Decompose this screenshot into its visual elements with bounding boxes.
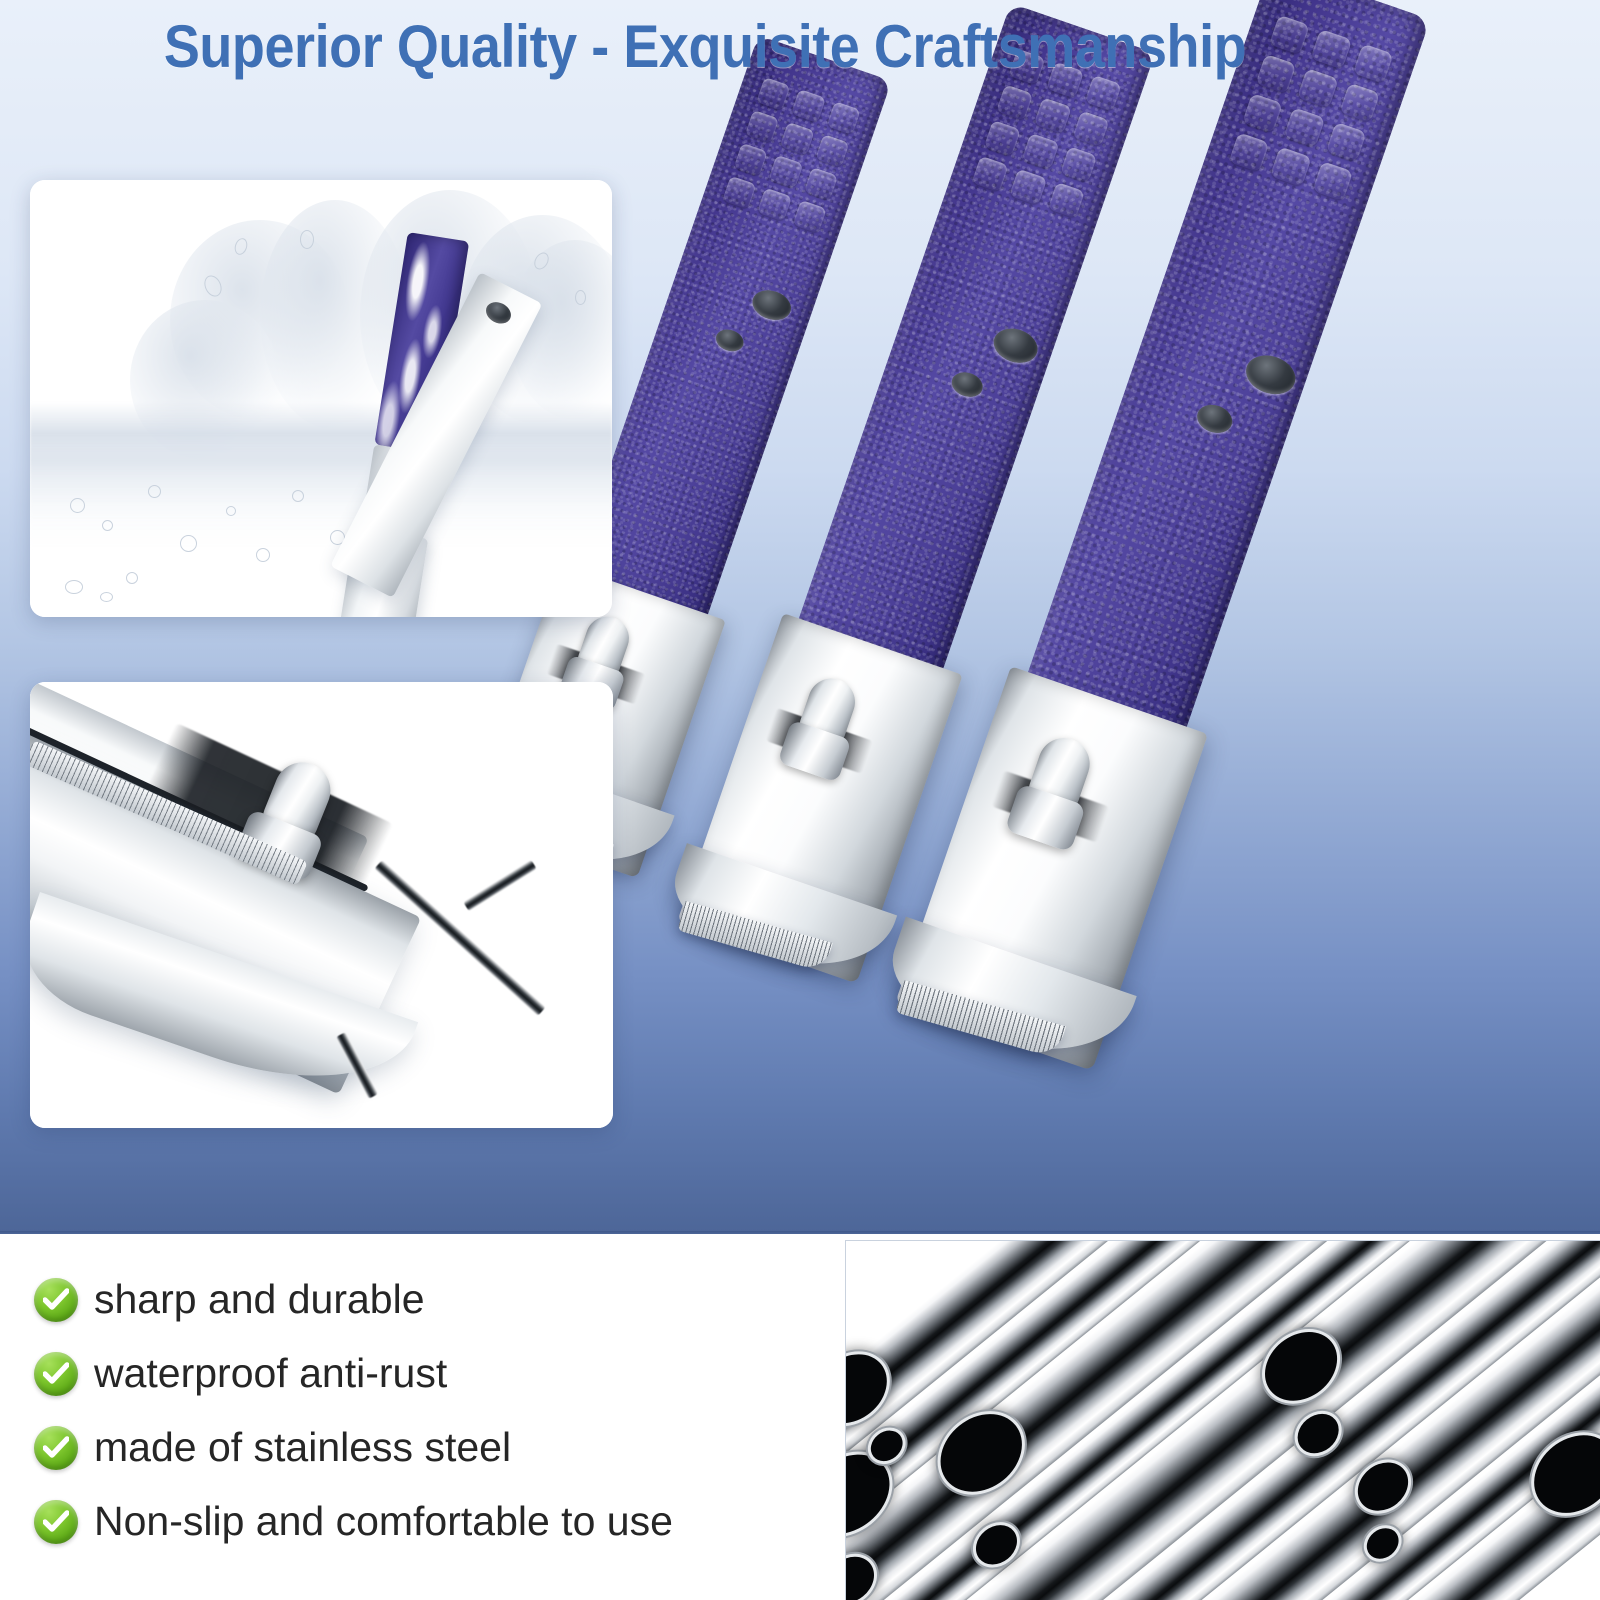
page-title: Superior Quality - Exquisite Craftsmansh… [71, 12, 1340, 81]
list-item: Non-slip and comfortable to use [34, 1493, 845, 1551]
list-item: waterproof anti-rust [34, 1345, 845, 1403]
check-circle-icon [34, 1426, 78, 1470]
hero-bottom-edge [0, 1231, 1600, 1234]
check-circle-icon [34, 1500, 78, 1544]
feature-label: sharp and durable [94, 1278, 425, 1321]
feature-list: sharp and durable waterproof anti-rust m… [0, 1233, 845, 1600]
card-blade-macro [30, 682, 613, 1128]
stainless-steel-tubes-photo [845, 1240, 1600, 1600]
feature-label: Non-slip and comfortable to use [94, 1500, 673, 1543]
water-splash-scene [30, 180, 612, 617]
wire-fragment-upper [463, 860, 537, 912]
blade-closeup-scene [30, 682, 613, 1128]
clipper-group [600, 0, 1600, 1120]
feature-label: waterproof anti-rust [94, 1352, 447, 1395]
check-circle-icon [34, 1352, 78, 1396]
tubes-inner [845, 1240, 1600, 1600]
product-infographic: Superior Quality - Exquisite Craftsmansh… [0, 0, 1600, 1600]
hero-panel: Superior Quality - Exquisite Craftsmansh… [0, 0, 1600, 1233]
card-waterproof-demo [30, 180, 612, 617]
feature-label: made of stainless steel [94, 1426, 511, 1469]
check-circle-icon [34, 1278, 78, 1322]
list-item: sharp and durable [34, 1271, 845, 1329]
grip-pattern [722, 77, 861, 234]
list-item: made of stainless steel [34, 1419, 845, 1477]
